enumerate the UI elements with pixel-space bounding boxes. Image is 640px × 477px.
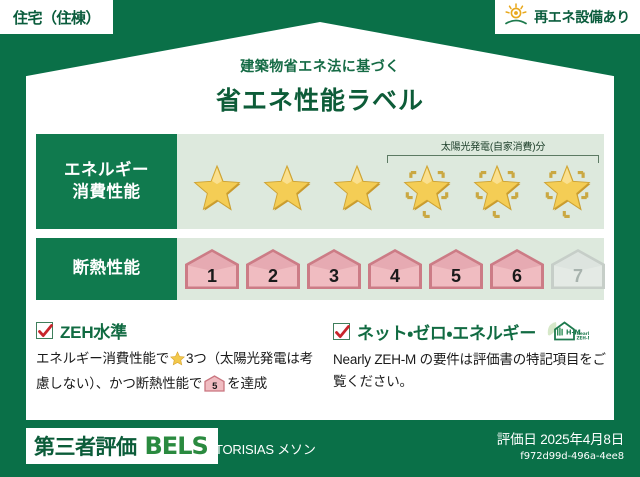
housing-type-label: 住宅（住棟） (13, 7, 100, 28)
star-2 (253, 157, 321, 223)
page-title: 建築物省エネ法に基づく 省エネ性能ラベル (0, 56, 640, 117)
performance-rows: エネルギー 消費性能 太陽光発電(自家消費)分 (36, 134, 604, 300)
note-body: Nearly ZEH-M の要件は評価書の特記項目をご覧ください。 (333, 349, 606, 393)
title-main: 省エネ性能ラベル (0, 81, 640, 117)
solar-sun-icon (503, 3, 529, 32)
third-party-eval-label: 第三者評価 (34, 431, 137, 461)
checkmark-icon (36, 322, 53, 339)
note-header: ネット・ゼロ・エネルギー H-M Nearly ZEH-M (333, 318, 606, 344)
star-glyph (466, 160, 528, 220)
insulation-level-1: 1 (183, 247, 241, 291)
insulation-level-4: 4 (366, 247, 424, 291)
label-footer: 第三者評価 BELS TORISIAS メソン 評価日 2025年4月8日 f9… (0, 420, 640, 477)
note-body: エネルギー消費性能で3つ（太陽光発電は考慮しない）、かつ断熱性能で5を達成 (36, 348, 321, 395)
insulation-performance-label: 断熱性能 (36, 238, 177, 300)
renewable-equipment-tag: 再エネ設備あり (495, 0, 640, 34)
evaluation-date: 評価日 2025年4月8日 (497, 428, 624, 448)
star-4-solar (393, 157, 461, 223)
insulation-level-3: 3 (305, 247, 363, 291)
note-zeh-standard: ZEH水準 エネルギー消費性能で3つ（太陽光発電は考慮しない）、かつ断熱性能で5… (36, 318, 321, 395)
evaluation-id: f972d99d-496a-4ee8 (497, 451, 624, 462)
star-6-solar (533, 157, 601, 223)
insulation-level-2: 2 (244, 247, 302, 291)
star-glyph (536, 160, 598, 220)
checkmark-icon (333, 323, 350, 340)
star-5-solar (463, 157, 531, 223)
star-glyph (326, 160, 388, 220)
title-subtitle: 建築物省エネ法に基づく (0, 56, 640, 76)
star-rating (177, 157, 605, 229)
star-glyph (186, 160, 248, 220)
renewable-equipment-label: 再エネ設備あり (534, 7, 630, 27)
note-net-zero-energy: ネット・ゼロ・エネルギー H-M Nearly ZEH-M (321, 318, 606, 395)
note-title: ネット・ゼロ・エネルギー (357, 319, 536, 344)
bels-plate: 第三者評価 BELS (26, 428, 218, 464)
inline-star-icon (170, 354, 185, 369)
owner-name: TORISIAS メソン (215, 439, 316, 458)
bels-logo: BELS (145, 432, 208, 460)
solar-bracket-caption: 太陽光発電(自家消費)分 (387, 138, 599, 153)
insulation-performance-row: 断熱性能 1 2 3 4 (36, 238, 604, 300)
energy-rating-area: 太陽光発電(自家消費)分 (177, 134, 605, 229)
svg-text:ZEH-M: ZEH-M (577, 336, 590, 341)
evaluation-info: 評価日 2025年4月8日 f972d99d-496a-4ee8 (497, 428, 624, 462)
insulation-level-6: 6 (488, 247, 546, 291)
star-glyph (396, 160, 458, 220)
energy-performance-row: エネルギー 消費性能 太陽光発電(自家消費)分 (36, 134, 604, 229)
star-3 (323, 157, 391, 223)
note-title: ZEH水準 (60, 318, 127, 343)
star-glyph (256, 160, 318, 220)
insulation-level-5: 5 (427, 247, 485, 291)
nearly-zeh-m-logo: H-M Nearly ZEH-M (545, 318, 589, 344)
note-header: ZEH水準 (36, 318, 321, 343)
insulation-level-scale: 1 2 3 4 5 6 (177, 238, 613, 300)
insulation-level-7-inactive: 7 (549, 247, 607, 291)
inline-house-badge: 5 (204, 375, 225, 392)
energy-performance-label: エネルギー 消費性能 (36, 134, 177, 229)
energy-performance-label: 住宅（住棟） 再エネ設備あり 建築物省エネ法に基づく 省エネ性能ラベル (0, 0, 640, 477)
star-1 (183, 157, 251, 223)
insulation-rating-area: 1 2 3 4 5 6 (177, 238, 613, 300)
certification-notes: ZEH水準 エネルギー消費性能で3つ（太陽光発電は考慮しない）、かつ断熱性能で5… (36, 318, 606, 395)
housing-type-tag: 住宅（住棟） (0, 0, 113, 34)
